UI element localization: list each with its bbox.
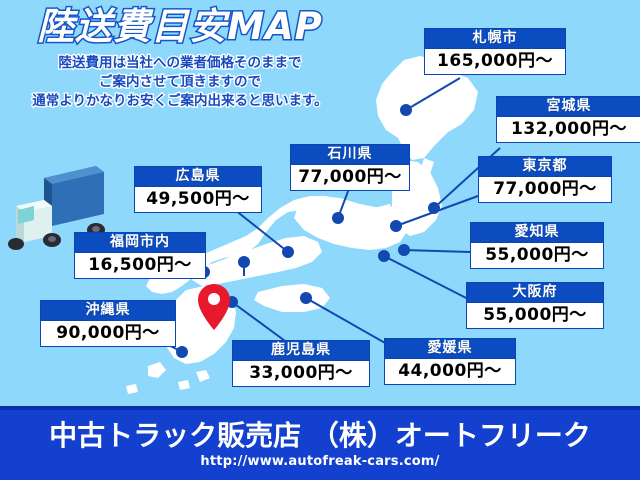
price-label-amount: 132,000円～ (497, 117, 640, 142)
price-label-region: 沖縄県 (41, 301, 175, 321)
price-label-amount: 55,000円～ (467, 303, 603, 328)
price-label-amount: 90,000円～ (41, 321, 175, 346)
price-label-hiroshima[interactable]: 広島県 49,500円～ (134, 166, 262, 213)
price-label-amount: 77,000円～ (291, 165, 409, 190)
price-label-region: 鹿児島県 (233, 341, 369, 361)
subtitle-line-1: 陸送費用は当社への業者価格そのままで (0, 54, 360, 73)
price-label-miyagi[interactable]: 宮城県 132,000円～ (496, 96, 640, 143)
price-label-osaka[interactable]: 大阪府 55,000円～ (466, 282, 604, 329)
footer-banner: 中古トラック販売店 （株）オートフリーク http://www.autofrea… (0, 406, 640, 480)
price-label-ehime[interactable]: 愛媛県 44,000円～ (384, 338, 516, 385)
price-label-sapporo[interactable]: 札幌市 165,000円～ (424, 28, 566, 75)
price-label-tokyo[interactable]: 東京都 77,000円～ (478, 156, 612, 203)
price-label-region: 札幌市 (425, 29, 565, 49)
price-label-kagoshima[interactable]: 鹿児島県 33,000円～ (232, 340, 370, 387)
price-label-region: 大阪府 (467, 283, 603, 303)
price-label-region: 広島県 (135, 167, 261, 187)
price-label-aichi[interactable]: 愛知県 55,000円～ (470, 222, 604, 269)
title-block: 陸送費目安MAP 陸送費用は当社への業者価格そのままで ご案内させて頂きますので… (0, 8, 360, 111)
price-label-amount: 44,000円～ (385, 359, 515, 384)
price-label-region: 愛媛県 (385, 339, 515, 359)
price-label-region: 愛知県 (471, 223, 603, 243)
website-url[interactable]: http://www.autofreak-cars.com/ (200, 454, 439, 469)
price-label-region: 東京都 (479, 157, 611, 177)
price-label-ishikawa[interactable]: 石川県 77,000円～ (290, 144, 410, 191)
subtitle-line-3: 通常よりかなりお安くご案内出来ると思います。 (0, 92, 360, 111)
price-label-amount: 77,000円～ (479, 177, 611, 202)
subtitle-line-2: ご案内させて頂きますので (0, 73, 360, 92)
price-label-fukuoka[interactable]: 福岡市内 16,500円～ (74, 232, 206, 279)
shipping-cost-map-poster: 陸送費目安MAP 陸送費用は当社への業者価格そのままで ご案内させて頂きますので… (0, 0, 640, 480)
price-label-okinawa[interactable]: 沖縄県 90,000円～ (40, 300, 176, 347)
price-label-amount: 55,000円～ (471, 243, 603, 268)
price-label-amount: 33,000円～ (233, 361, 369, 386)
page-title: 陸送費目安MAP (0, 8, 360, 45)
price-label-amount: 165,000円～ (425, 49, 565, 74)
price-label-region: 宮城県 (497, 97, 640, 117)
price-label-region: 福岡市内 (75, 233, 205, 253)
company-name: 中古トラック販売店 （株）オートフリーク (49, 421, 591, 450)
price-label-amount: 16,500円～ (75, 253, 205, 278)
price-label-amount: 49,500円～ (135, 187, 261, 212)
price-label-region: 石川県 (291, 145, 409, 165)
subtitle-block: 陸送費用は当社への業者価格そのままで ご案内させて頂きますので 通常よりかなりお… (0, 54, 360, 111)
